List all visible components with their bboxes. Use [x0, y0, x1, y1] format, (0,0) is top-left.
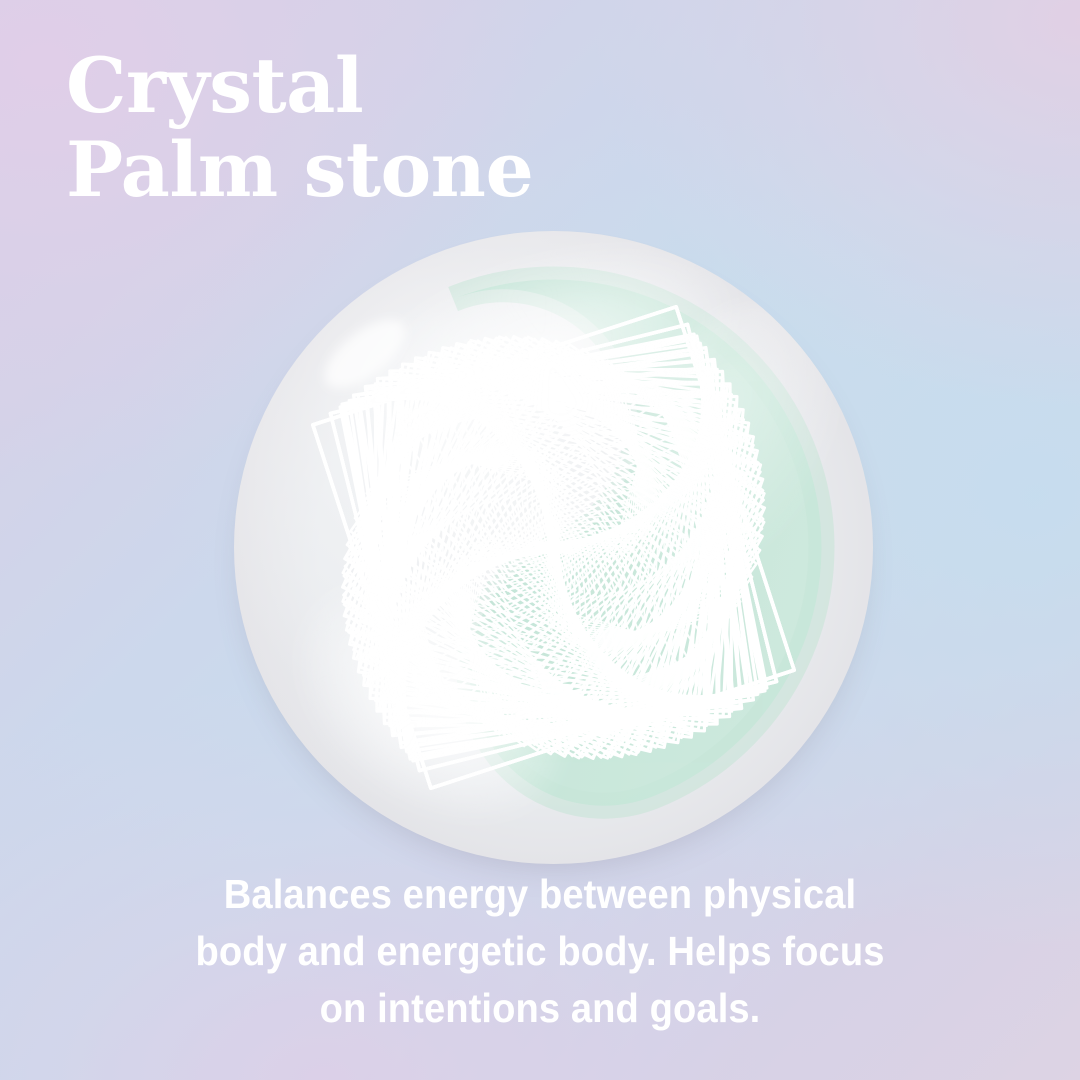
poster-canvas: Crystal Palm stone	[0, 0, 1080, 1080]
title-line-1: Crystal	[66, 44, 706, 128]
crystal-palm-stone	[234, 231, 873, 864]
description-line-3: on intentions and goals.	[38, 980, 1042, 1037]
stone-rim-outline	[234, 231, 873, 864]
title-line-2: Palm stone	[66, 128, 706, 212]
page-title: Crystal Palm stone	[66, 44, 706, 212]
description-line-1: Balances energy between physical	[38, 866, 1042, 923]
description-block: Balances energy between physical body an…	[0, 866, 1080, 1037]
description-line-2: body and energetic body. Helps focus	[38, 923, 1042, 980]
